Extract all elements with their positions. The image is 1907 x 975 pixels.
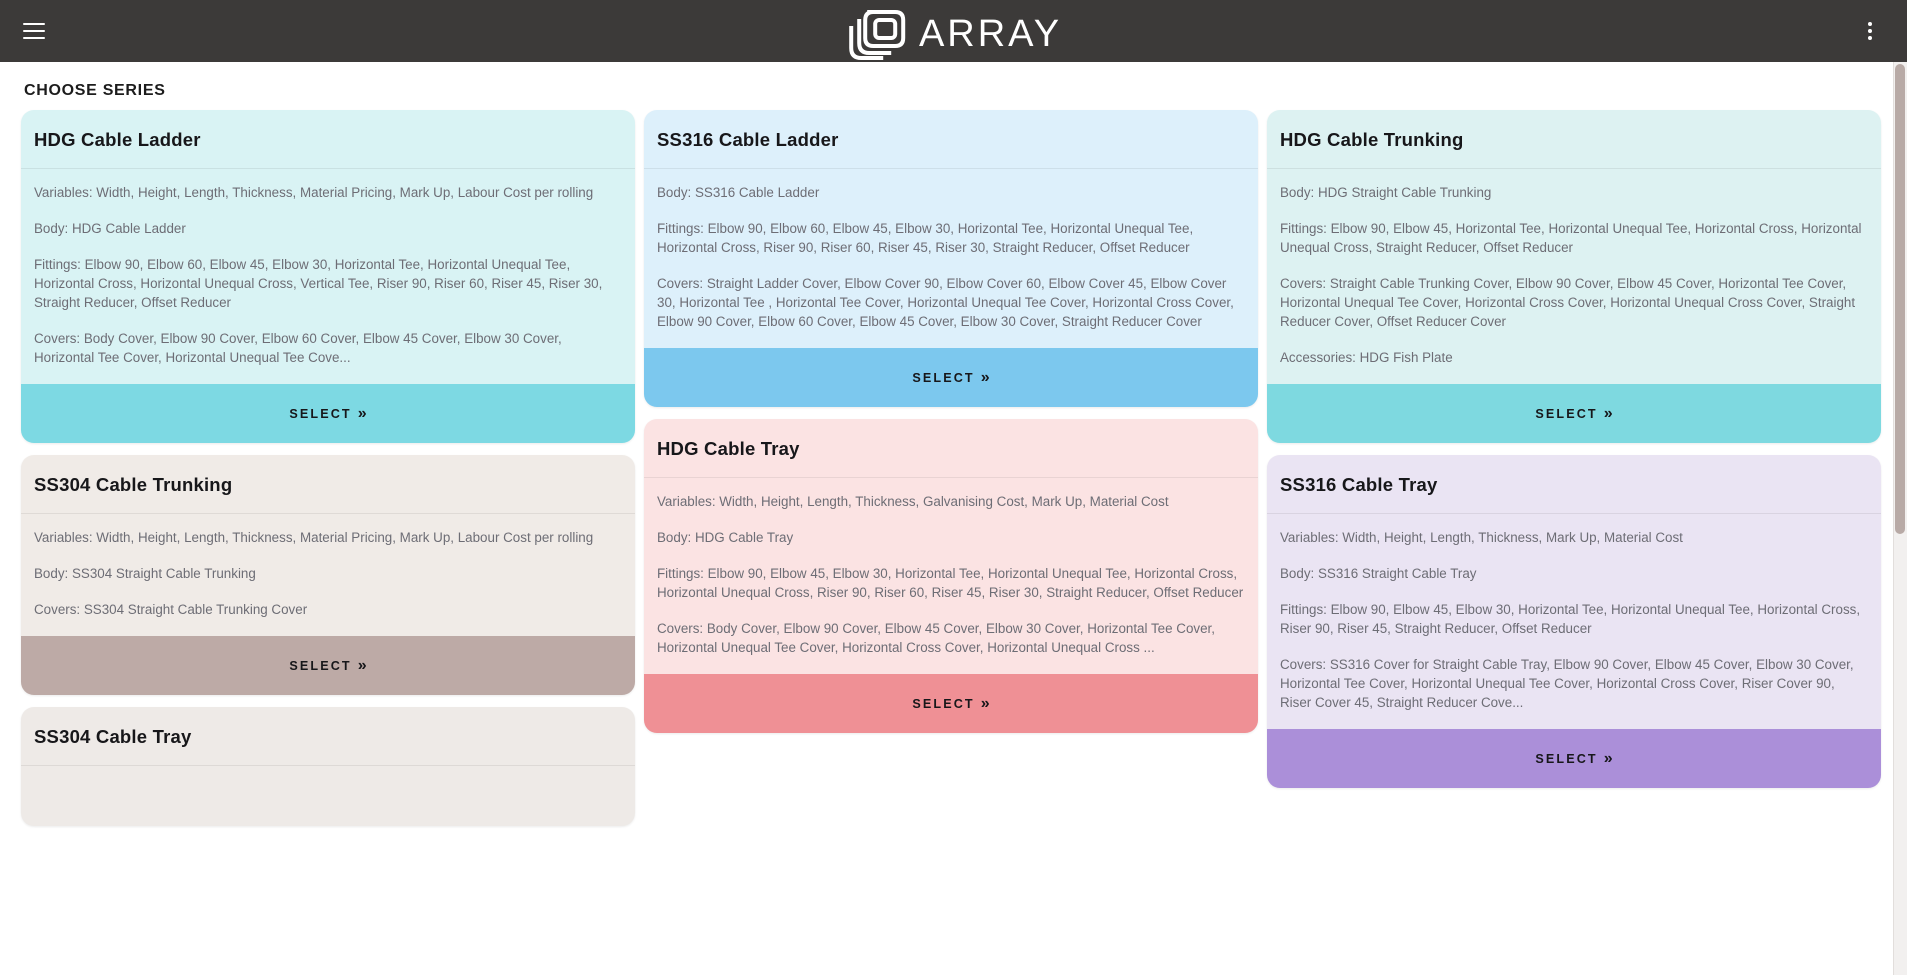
series-card-detail-line: Body: SS304 Straight Cable Trunking	[34, 564, 622, 583]
series-card-detail-line: Body: SS316 Straight Cable Tray	[1280, 564, 1868, 583]
series-card-body	[21, 766, 635, 826]
series-card-detail-line: Variables: Width, Height, Length, Thickn…	[34, 528, 622, 547]
series-card-detail-line: Covers: Straight Ladder Cover, Elbow Cov…	[657, 274, 1245, 331]
chevron-double-right-icon: »	[358, 658, 367, 674]
chevron-double-right-icon: »	[981, 370, 990, 386]
select-button[interactable]: SELECT»	[644, 348, 1258, 407]
series-card-detail-line: Variables: Width, Height, Length, Thickn…	[34, 183, 622, 202]
series-card-title: SS304 Cable Trunking	[34, 474, 622, 496]
select-button-label: SELECT	[289, 659, 351, 673]
hamburger-bar	[23, 30, 45, 32]
page-title: CHOOSE SERIES	[21, 62, 1881, 110]
select-button-label: SELECT	[912, 697, 974, 711]
hamburger-bar	[23, 23, 45, 25]
series-column: SS316 Cable LadderBody: SS316 Cable Ladd…	[644, 110, 1258, 733]
chevron-double-right-icon: »	[1604, 751, 1613, 767]
chevron-double-right-icon: »	[1604, 406, 1613, 422]
array-logo-icon	[845, 8, 913, 60]
select-button-label: SELECT	[1535, 752, 1597, 766]
select-button-label: SELECT	[1535, 407, 1597, 421]
series-card-header: SS316 Cable Tray	[1267, 455, 1881, 513]
select-button[interactable]: SELECT»	[1267, 384, 1881, 443]
hamburger-menu-icon[interactable]	[23, 23, 45, 39]
series-card-detail-line: Variables: Width, Height, Length, Thickn…	[657, 492, 1245, 511]
series-card-header: HDG Cable Tray	[644, 419, 1258, 477]
kebab-dot	[1868, 36, 1872, 40]
scrollbar-thumb[interactable]	[1895, 64, 1905, 534]
series-card-detail-line: Fittings: Elbow 90, Elbow 60, Elbow 45, …	[34, 255, 622, 312]
select-button-label: SELECT	[912, 371, 974, 385]
page-scrollbar[interactable]	[1893, 62, 1907, 975]
select-button-label: SELECT	[289, 407, 351, 421]
series-card[interactable]: HDG Cable TrunkingBody: HDG Straight Cab…	[1267, 110, 1881, 443]
series-card-header: HDG Cable Trunking	[1267, 110, 1881, 168]
series-card-detail-line: Covers: SS304 Straight Cable Trunking Co…	[34, 600, 622, 619]
series-card-detail-line: Fittings: Elbow 90, Elbow 60, Elbow 45, …	[657, 219, 1245, 257]
series-card-header: SS304 Cable Tray	[21, 707, 635, 765]
kebab-menu-icon[interactable]	[1860, 16, 1880, 46]
chevron-double-right-icon: »	[358, 406, 367, 422]
top-app-bar: ARRAY ARRAY METAL (M) SDN BERHAD	[0, 0, 1907, 62]
series-card-header: HDG Cable Ladder	[21, 110, 635, 168]
logo-wordmark: ARRAY	[919, 15, 1062, 53]
series-card-title: SS304 Cable Tray	[34, 726, 622, 748]
series-card-detail-line: Fittings: Elbow 90, Elbow 45, Elbow 30, …	[657, 564, 1245, 602]
series-card[interactable]: SS316 Cable LadderBody: SS316 Cable Ladd…	[644, 110, 1258, 407]
kebab-dot	[1868, 22, 1872, 26]
chevron-double-right-icon: »	[981, 696, 990, 712]
select-button[interactable]: SELECT»	[21, 384, 635, 443]
series-card-body: Variables: Width, Height, Length, Thickn…	[1267, 514, 1881, 729]
series-card-body: Variables: Width, Height, Length, Thickn…	[21, 514, 635, 636]
page-content: CHOOSE SERIES HDG Cable LadderVariables:…	[0, 62, 1907, 975]
series-card-detail-line: Body: HDG Straight Cable Trunking	[1280, 183, 1868, 202]
series-card-detail-line: Fittings: Elbow 90, Elbow 45, Elbow 30, …	[1280, 600, 1868, 638]
series-card-title: HDG Cable Ladder	[34, 129, 622, 151]
series-card-detail-line: Body: HDG Cable Ladder	[34, 219, 622, 238]
series-card-detail-line: Body: SS316 Cable Ladder	[657, 183, 1245, 202]
series-card-detail-line: Fittings: Elbow 90, Elbow 45, Horizontal…	[1280, 219, 1868, 257]
series-card-detail-line: Variables: Width, Height, Length, Thickn…	[1280, 528, 1868, 547]
series-card-header: SS304 Cable Trunking	[21, 455, 635, 513]
series-card-body: Body: SS316 Cable LadderFittings: Elbow …	[644, 169, 1258, 348]
series-card-body: Variables: Width, Height, Length, Thickn…	[21, 169, 635, 384]
series-card-detail-line: Covers: Body Cover, Elbow 90 Cover, Elbo…	[34, 329, 622, 367]
series-card-header: SS316 Cable Ladder	[644, 110, 1258, 168]
series-card-detail-line: Body: HDG Cable Tray	[657, 528, 1245, 547]
series-card-title: HDG Cable Trunking	[1280, 129, 1868, 151]
series-card-title: HDG Cable Tray	[657, 438, 1245, 460]
series-column: HDG Cable TrunkingBody: HDG Straight Cab…	[1267, 110, 1881, 788]
series-card[interactable]: SS316 Cable TrayVariables: Width, Height…	[1267, 455, 1881, 788]
series-card-title: SS316 Cable Ladder	[657, 129, 1245, 151]
hamburger-bar	[23, 37, 45, 39]
series-card-grid: HDG Cable LadderVariables: Width, Height…	[21, 110, 1881, 826]
series-card-detail-line: Covers: Body Cover, Elbow 90 Cover, Elbo…	[657, 619, 1245, 657]
series-card-detail-line: Covers: SS316 Cover for Straight Cable T…	[1280, 655, 1868, 712]
series-card-body: Variables: Width, Height, Length, Thickn…	[644, 478, 1258, 674]
series-card-detail-line: Accessories: HDG Fish Plate	[1280, 348, 1868, 367]
kebab-dot	[1868, 29, 1872, 33]
series-card-body: Body: HDG Straight Cable TrunkingFitting…	[1267, 169, 1881, 384]
series-card-detail-line: Covers: Straight Cable Trunking Cover, E…	[1280, 274, 1868, 331]
select-button[interactable]: SELECT»	[21, 636, 635, 695]
series-card[interactable]: SS304 Cable Tray	[21, 707, 635, 826]
series-card[interactable]: HDG Cable TrayVariables: Width, Height, …	[644, 419, 1258, 733]
series-card[interactable]: HDG Cable LadderVariables: Width, Height…	[21, 110, 635, 443]
series-column: HDG Cable LadderVariables: Width, Height…	[21, 110, 635, 826]
series-card-title: SS316 Cable Tray	[1280, 474, 1868, 496]
select-button[interactable]: SELECT»	[1267, 729, 1881, 788]
logo-row: ARRAY	[845, 8, 1062, 60]
select-button[interactable]: SELECT»	[644, 674, 1258, 733]
brand-logo: ARRAY ARRAY METAL (M) SDN BERHAD	[815, 8, 1093, 62]
series-card[interactable]: SS304 Cable TrunkingVariables: Width, He…	[21, 455, 635, 695]
